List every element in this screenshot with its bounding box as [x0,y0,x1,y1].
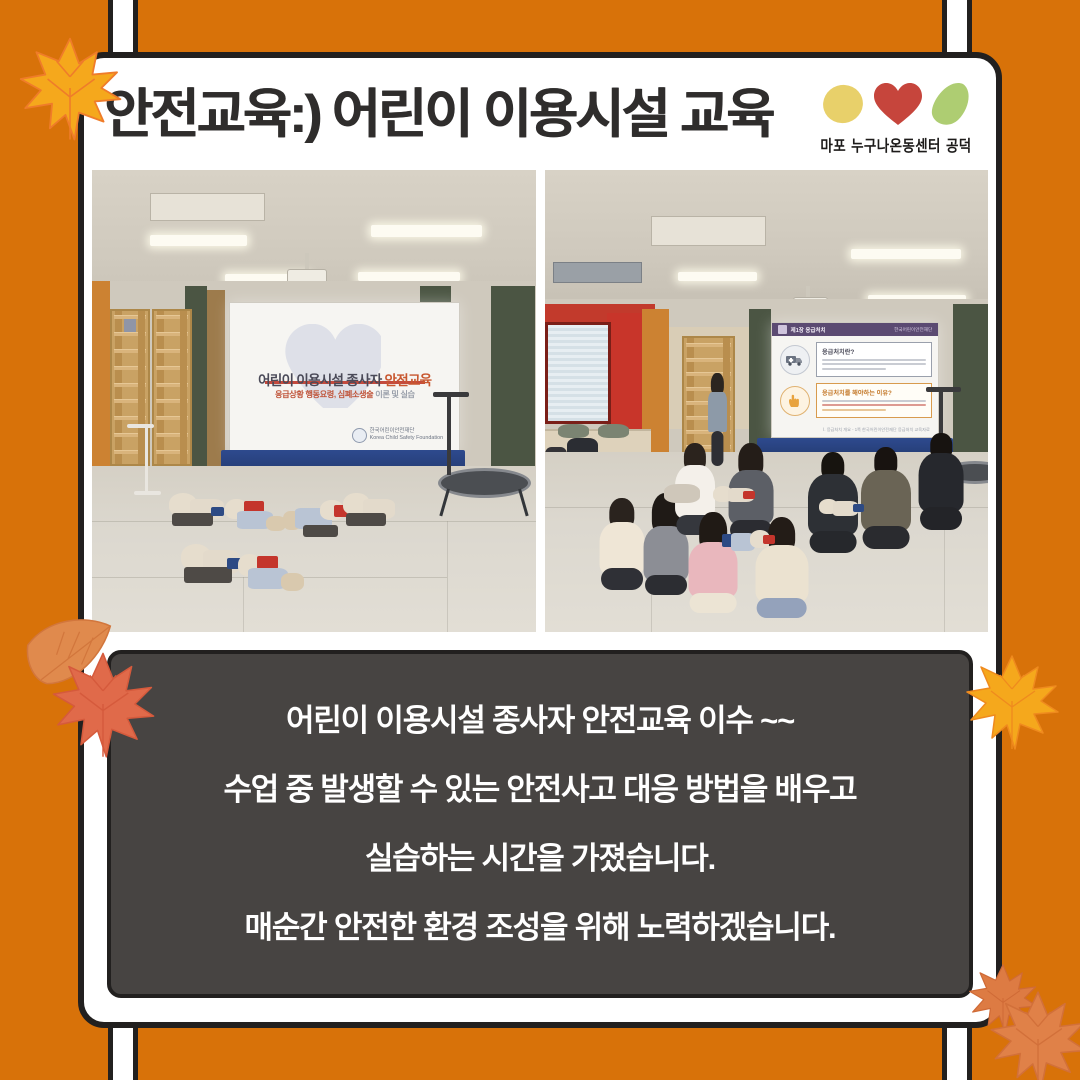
green-wall-panel-far-right [491,286,535,471]
slide-logo-text: 한국어린이안전재단 Korea Child Safety Foundation [370,428,443,442]
ceiling-light-1 [851,249,962,259]
slide-logo-mark-icon [352,428,367,443]
text-line [822,363,926,365]
projection-screen: 제1장 응급처치 한국어린이안전재단 [771,322,940,438]
window [545,322,612,424]
slide-footer-logo: 한국어린이안전재단 Korea Child Safety Foundation [352,428,443,443]
body-line-4: 매순간 안전한 환경 조성을 위해 노력하겠습니다. [245,912,836,943]
mic-stand [145,424,148,493]
description-panel: 어린이 이용시설 종사자 안전교육 이수 ~~ 수업 중 발생할 수 있는 안전… [107,650,973,998]
hand-pointer-icon [780,386,810,416]
ceiling [545,170,989,309]
ambulance-icon [780,345,810,375]
slide-block-1: 응급처치란? [780,342,932,378]
body-line-2: 수업 중 발생할 수 있는 안전사고 대응 방법을 배우고 [223,774,856,805]
cushion-floor [664,484,699,502]
ceiling-light-1 [150,235,248,246]
ceiling-ac-unit [553,262,642,283]
body-line-3: 실습하는 시간을 가졌습니다. [365,843,715,874]
stand-pole-top [926,387,961,392]
ceiling-light-3 [358,272,460,281]
red-heart-icon [873,82,923,126]
text-line [822,404,926,406]
stand-pole-right [447,392,451,475]
slide-footer: Ⅰ. 응급처치 개요 - 1쪽 한국어린이안전재단 응급처치 교육자료 [823,427,930,432]
slide-subtitle: 응급상황 행동요령, 심폐소생술 이론 및 실습 [230,388,459,400]
mic-stand-base [134,491,161,495]
slide-block-2-box: 응급처치를 해야하는 이유? [816,383,932,418]
mannequin-4 [340,493,407,525]
slide-block-1-head: 응급처치란? [822,347,926,356]
floor-seam-v-1 [447,521,448,632]
body-line-1: 어린이 이용시설 종사자 안전교육 이수 ~~ [286,705,794,736]
orange-wall-panel [92,281,110,466]
card-header: 안전교육:) 어린이 이용시설 교육 마포 누구나온동센터 공덕 [84,58,996,170]
photo-training-room-mannequins: 어린이 이용시설 종사자 안전교육 응급상황 행동요령, 심폐소생술 이론 및 … [92,170,536,632]
green-wall-panel [749,309,771,457]
participant-1 [598,498,647,590]
slide-block-2: 응급처치를 해야하는 이유? [780,382,932,418]
slide-block-1-box: 응급처치란? [816,342,932,377]
ceiling-vent-1 [651,216,766,246]
participant-9 [917,433,966,530]
logo-caption: 마포 누구나온동센터 공덕 [820,132,971,155]
trampoline [438,468,531,498]
yellow-oval-icon [820,82,866,126]
slide-title: 어린이 이용시설 종사자 안전교육 [230,369,459,389]
wall-bars-left [110,309,150,466]
logo-shapes [820,79,972,129]
slide-bar-chip-icon [778,325,787,334]
text-line [822,400,926,402]
page-title: 안전교육:) 어린이 이용시설 교육 [104,88,810,141]
mannequin-3 [819,498,868,521]
cushion-1 [558,424,589,438]
green-leaf-icon [930,82,972,126]
mannequin-6 [238,553,309,595]
hand-glyph [787,393,802,408]
text-line [822,368,886,370]
slide-header-bar: 제1장 응급처치 한국어린이안전재단 [772,323,939,335]
text-line [822,359,926,361]
poster-canvas: 안전교육:) 어린이 이용시설 교육 마포 누구나온동센터 공덕 [0,0,1080,1080]
mannequin-2 [225,498,292,533]
photo-row: 어린이 이용시설 종사자 안전교육 응급상황 행동요령, 심폐소생술 이론 및 … [92,170,988,632]
mic-stand-boom [127,424,154,428]
mannequin-1 [713,484,762,507]
ceiling-light-2 [371,225,482,236]
cushion-2 [598,424,629,438]
projection-screen: 어린이 이용시설 종사자 안전교육 응급상황 행동요령, 심폐소생술 이론 및 … [229,302,460,454]
text-line [822,409,886,411]
mannequin-2 [722,530,775,558]
ceiling-vent [150,193,265,221]
ceiling-light-2 [678,272,758,281]
organization-logo: 마포 누구나온동센터 공덕 [810,79,982,154]
slide-bar-org: 한국어린이안전재단 [894,327,932,333]
photo-participants-seated: 제1장 응급처치 한국어린이안전재단 [545,170,989,632]
slide-bar-title: 제1장 응급처치 [791,326,826,334]
wall-bars-right [152,309,192,466]
wood-door [207,290,225,466]
content-card: 안전교육:) 어린이 이용시설 교육 마포 누구나온동센터 공덕 [78,52,1002,1028]
stand-pole-top [433,392,468,397]
slide-block-2-head: 응급처치를 해야하는 이유? [822,388,926,397]
ambulance-glyph [786,354,803,366]
